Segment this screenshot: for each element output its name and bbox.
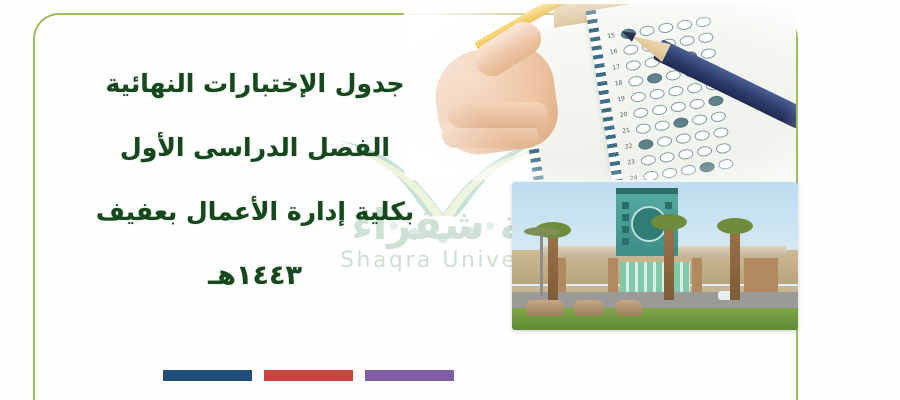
accent-bar-blue <box>163 370 252 381</box>
landscape-rock <box>574 300 604 316</box>
street-lamp <box>540 234 543 296</box>
answer-bubble-d <box>691 113 707 125</box>
gate-pillar <box>608 258 618 292</box>
tower-tile <box>622 238 629 245</box>
answer-bubble-c <box>658 21 674 33</box>
answer-bubble-c <box>670 100 686 112</box>
answer-bubble-b <box>659 151 675 163</box>
tower-tile <box>622 214 629 221</box>
gate-glass-facade <box>620 262 690 292</box>
answer-row-number: 15 <box>605 32 615 40</box>
accent-bar-group <box>163 370 454 381</box>
tower-tile <box>622 226 629 233</box>
answer-bubble-c <box>673 116 689 128</box>
answer-bubble-e <box>713 126 729 138</box>
answer-bubble-c <box>668 85 684 97</box>
answer-bubble-d <box>676 18 692 30</box>
answer-bubble-b <box>651 103 667 115</box>
tower-tile <box>665 202 672 209</box>
palm-tree <box>730 230 740 300</box>
answer-bubble-a <box>638 138 654 150</box>
answer-bubble-c <box>675 132 691 144</box>
title-line-1: جدول الإختبارات النهائية <box>95 52 415 116</box>
answer-row-number: 21 <box>621 127 631 135</box>
answer-bubble-d <box>694 129 710 141</box>
hand-finger <box>448 102 548 128</box>
answer-bubble-b <box>649 87 665 99</box>
gate-pillar <box>744 258 778 292</box>
answer-bubble-b <box>654 119 670 131</box>
campus-gate-photo <box>512 182 798 330</box>
title-line-2: الفصل الدراسى الأول <box>95 116 415 180</box>
answer-bubble-b <box>656 135 672 147</box>
answer-row-number: 17 <box>610 64 620 72</box>
answer-row-number: 16 <box>608 48 618 56</box>
answer-bubble-a <box>625 59 641 71</box>
answer-bubble-c <box>680 164 696 176</box>
tower-tile <box>622 202 629 209</box>
answer-bubble-e <box>698 31 714 43</box>
poster-canvas: جامعة شقراء Shaqra Univers 1516171819202… <box>0 0 900 400</box>
answer-row-number: 23 <box>626 158 636 166</box>
answer-bubble-e <box>710 110 726 122</box>
answer-bubble-e <box>695 15 711 27</box>
accent-bar-red <box>264 370 353 381</box>
answer-sheet-photo-bg: 15161718192021222324 <box>404 4 796 180</box>
title-line-4-year: ١٤٤٣هـ <box>95 244 415 308</box>
answer-row-number: 20 <box>618 111 628 119</box>
answer-bubble-a <box>643 169 659 180</box>
answer-row-number: 24 <box>628 174 638 180</box>
answer-bubble-d <box>699 161 715 173</box>
answer-bubble-e <box>718 158 734 170</box>
answer-row-number: 19 <box>615 95 625 103</box>
answer-bubble-a <box>630 90 646 102</box>
answer-bubble-b <box>661 166 677 178</box>
answer-row-number: 22 <box>623 143 633 151</box>
answer-bubble-b <box>646 72 662 84</box>
answer-bubble-a <box>633 106 649 118</box>
landscape-rock <box>616 300 642 316</box>
answer-bubble-e <box>715 142 731 154</box>
answer-bubble-a <box>628 75 644 87</box>
writing-hand <box>412 10 602 160</box>
gate-pillar <box>692 258 702 292</box>
landscape-rock <box>526 300 564 316</box>
answer-bubble-c <box>678 148 694 160</box>
answer-bubble-d <box>689 97 705 109</box>
answer-sheet-photo: 15161718192021222324 <box>404 4 796 180</box>
pencil-tip <box>619 27 636 42</box>
palm-tree <box>664 226 674 300</box>
page-title: جدول الإختبارات النهائية الفصل الدراسى ا… <box>95 52 415 308</box>
answer-row-number: 18 <box>613 79 623 87</box>
accent-bar-purple <box>365 370 454 381</box>
title-line-3: بكلية إدارة الأعمال بعفيف <box>95 180 415 244</box>
answer-bubble-a <box>635 122 651 134</box>
answer-bubble-a <box>640 154 656 166</box>
palm-tree <box>548 234 558 300</box>
answer-bubble-d <box>696 145 712 157</box>
